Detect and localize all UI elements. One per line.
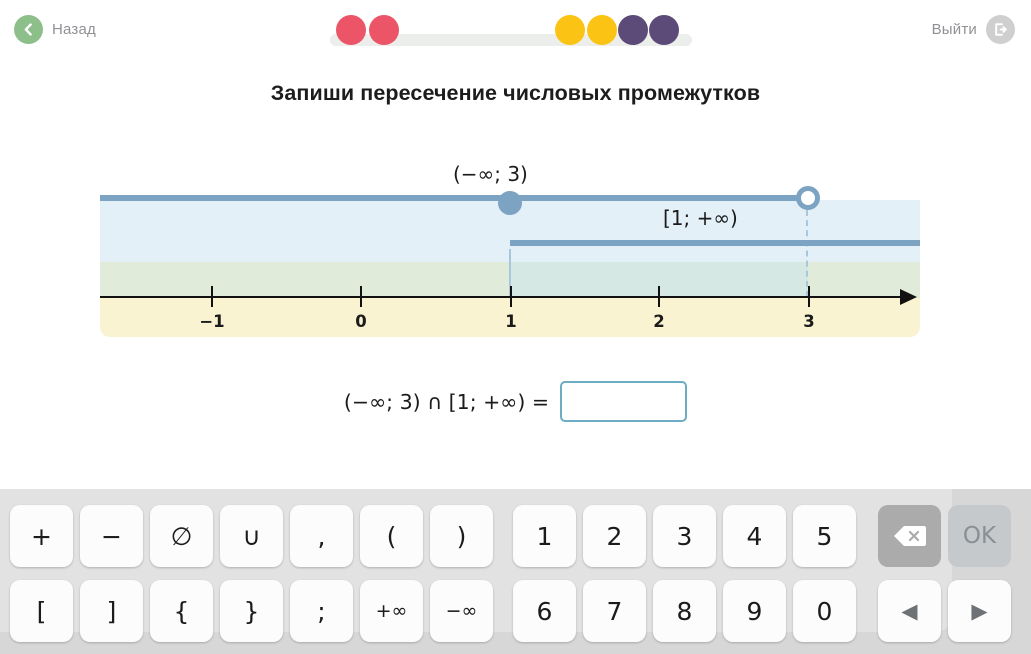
progress-dot-yellow	[587, 15, 617, 45]
interval2-ray	[510, 240, 920, 246]
axis-tick	[510, 286, 512, 307]
axis-tick	[658, 286, 660, 307]
key-plus-infinity[interactable]: +∞	[360, 580, 423, 642]
key-0[interactable]: 0	[793, 580, 856, 642]
backspace-icon	[893, 525, 927, 547]
key-1[interactable]: 1	[513, 505, 576, 567]
axis-tick-label: 0	[355, 312, 366, 331]
progress-dot-purple	[649, 15, 679, 45]
number-axis	[100, 296, 905, 298]
interval1-open-endpoint	[796, 186, 820, 210]
interval1-label: (−∞; 3)	[453, 162, 528, 186]
chevron-left-icon	[14, 15, 43, 44]
key-bracket-close[interactable]: ]	[80, 580, 143, 642]
answer-expression: (−∞; 3) ∩ [1; +∞) =	[344, 390, 549, 414]
key-semicolon[interactable]: ;	[290, 580, 353, 642]
key-backspace[interactable]	[878, 505, 941, 567]
exit-arrow-icon	[986, 15, 1015, 44]
axis-tick-label: 2	[653, 312, 664, 331]
interval1-ray	[100, 195, 808, 201]
on-screen-keyboard: +−∅∪,()12345OK[]{};+∞−∞67890◀▶	[0, 489, 1031, 654]
key-minus[interactable]: −	[80, 505, 143, 567]
key-bracket-open[interactable]: [	[10, 580, 73, 642]
back-button[interactable]: Назад	[14, 15, 96, 44]
interval2-closed-endpoint	[498, 191, 522, 215]
number-line-diagram: (−∞; 3) [1; +∞) −10123	[100, 195, 920, 337]
key-paren-close[interactable]: )	[430, 505, 493, 567]
progress-dot-yellow	[555, 15, 585, 45]
key-plus[interactable]: +	[10, 505, 73, 567]
key-9[interactable]: 9	[723, 580, 786, 642]
key-7[interactable]: 7	[583, 580, 646, 642]
key-2[interactable]: 2	[583, 505, 646, 567]
axis-tick	[211, 286, 213, 307]
exit-button[interactable]: Выйти	[932, 15, 1015, 44]
interval1-dashed-guide	[806, 210, 808, 297]
progress-dot-red	[369, 15, 399, 45]
top-bar: Назад Выйти	[0, 0, 1031, 60]
page-title: Запиши пересечение числовых промежутков	[0, 81, 1031, 106]
axis-arrow-icon	[900, 289, 917, 305]
axis-tick	[808, 286, 810, 307]
answer-input[interactable]	[560, 381, 687, 422]
axis-tick	[360, 286, 362, 307]
key-3[interactable]: 3	[653, 505, 716, 567]
key-emptyset[interactable]: ∅	[150, 505, 213, 567]
axis-tick-label: −1	[199, 312, 224, 331]
key-arrow-left[interactable]: ◀	[878, 580, 941, 642]
progress-dot-purple	[618, 15, 648, 45]
answer-row: (−∞; 3) ∩ [1; +∞) =	[0, 381, 1031, 422]
key-brace-open[interactable]: {	[150, 580, 213, 642]
axis-tick-label: 1	[505, 312, 516, 331]
interval2-label: [1; +∞)	[663, 206, 738, 230]
key-paren-open[interactable]: (	[360, 505, 423, 567]
key-5[interactable]: 5	[793, 505, 856, 567]
key-4[interactable]: 4	[723, 505, 786, 567]
axis-tick-label: 3	[803, 312, 814, 331]
back-label: Назад	[52, 21, 96, 38]
key-minus-infinity[interactable]: −∞	[430, 580, 493, 642]
key-comma[interactable]: ,	[290, 505, 353, 567]
key-brace-close[interactable]: }	[220, 580, 283, 642]
progress-dot-red	[336, 15, 366, 45]
key-ok[interactable]: OK	[948, 505, 1011, 567]
key-union[interactable]: ∪	[220, 505, 283, 567]
key-8[interactable]: 8	[653, 580, 716, 642]
key-arrow-right[interactable]: ▶	[948, 580, 1011, 642]
exit-label: Выйти	[932, 21, 977, 38]
key-6[interactable]: 6	[513, 580, 576, 642]
